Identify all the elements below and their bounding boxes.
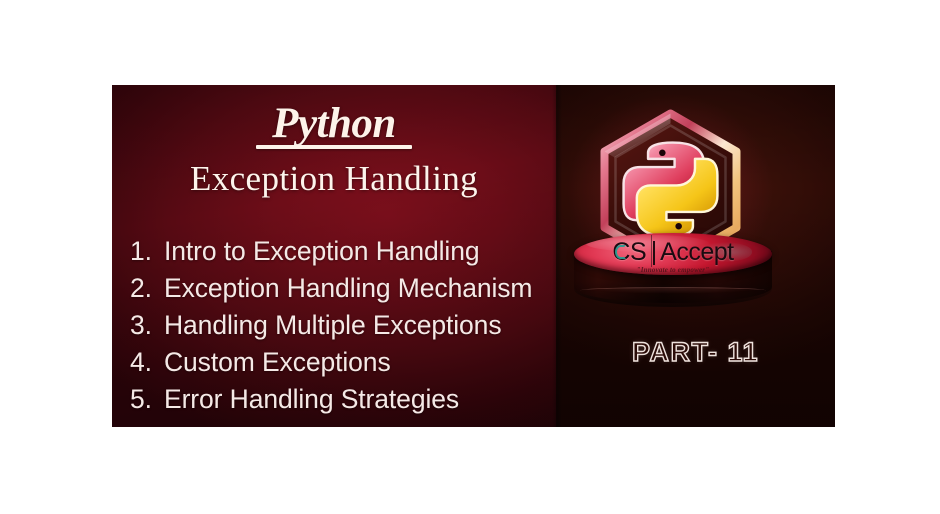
video-thumbnail-card: Python Exception Handling 1. Intro to Ex… bbox=[112, 85, 835, 427]
brand-divider-bar bbox=[653, 241, 655, 265]
list-item-label: Handling Multiple Exceptions bbox=[164, 307, 501, 344]
list-item-label: Custom Exceptions bbox=[164, 344, 391, 381]
list-item-label: Error Handling Strategies bbox=[164, 381, 459, 418]
page-subtitle: Exception Handling bbox=[112, 160, 556, 199]
list-item-number: 3. bbox=[130, 307, 164, 344]
headline-block: Python Exception Handling bbox=[112, 101, 556, 199]
part-label-text: PART- 11 bbox=[632, 337, 759, 367]
list-item: 2. Exception Handling Mechanism bbox=[130, 270, 556, 307]
brand-logo: CS Accept "Innovate to empower" bbox=[574, 240, 772, 274]
brand-accept-text: Accept bbox=[660, 240, 733, 265]
list-item-label: Exception Handling Mechanism bbox=[164, 270, 532, 307]
pedestal-seam bbox=[580, 287, 766, 294]
right-panel-content: CS Accept "Innovate to empower" PART- 11 bbox=[556, 85, 835, 427]
brand-cs-mark: CS bbox=[612, 240, 648, 265]
topic-list: 1. Intro to Exception Handling 2. Except… bbox=[130, 233, 556, 418]
cylinder-pedestal-icon: CS Accept "Innovate to empower" bbox=[564, 229, 782, 321]
list-item-number: 1. bbox=[130, 233, 164, 270]
part-label: PART- 11 bbox=[556, 337, 835, 367]
list-item: 1. Intro to Exception Handling bbox=[130, 233, 556, 270]
pedestal-shadow bbox=[574, 281, 772, 307]
pedestal-top-surface: CS Accept "Innovate to empower" bbox=[574, 233, 772, 275]
list-item: 4. Custom Exceptions bbox=[130, 344, 556, 381]
list-item-number: 4. bbox=[130, 344, 164, 381]
brand-wordmark: CS Accept bbox=[612, 240, 733, 265]
list-item: 5. Error Handling Strategies bbox=[130, 381, 556, 418]
list-item-label: Intro to Exception Handling bbox=[164, 233, 480, 270]
page-title: Python bbox=[256, 101, 412, 148]
list-item: 3. Handling Multiple Exceptions bbox=[130, 307, 556, 344]
page-title-text: Python bbox=[272, 100, 396, 147]
list-item-number: 2. bbox=[130, 270, 164, 307]
list-item-number: 5. bbox=[130, 381, 164, 418]
brand-tagline: "Innovate to empower" bbox=[574, 266, 772, 274]
brand-teal-arc-icon bbox=[615, 245, 626, 259]
title-underline-rule bbox=[256, 145, 412, 149]
screenshot-canvas: Python Exception Handling 1. Intro to Ex… bbox=[0, 0, 940, 514]
